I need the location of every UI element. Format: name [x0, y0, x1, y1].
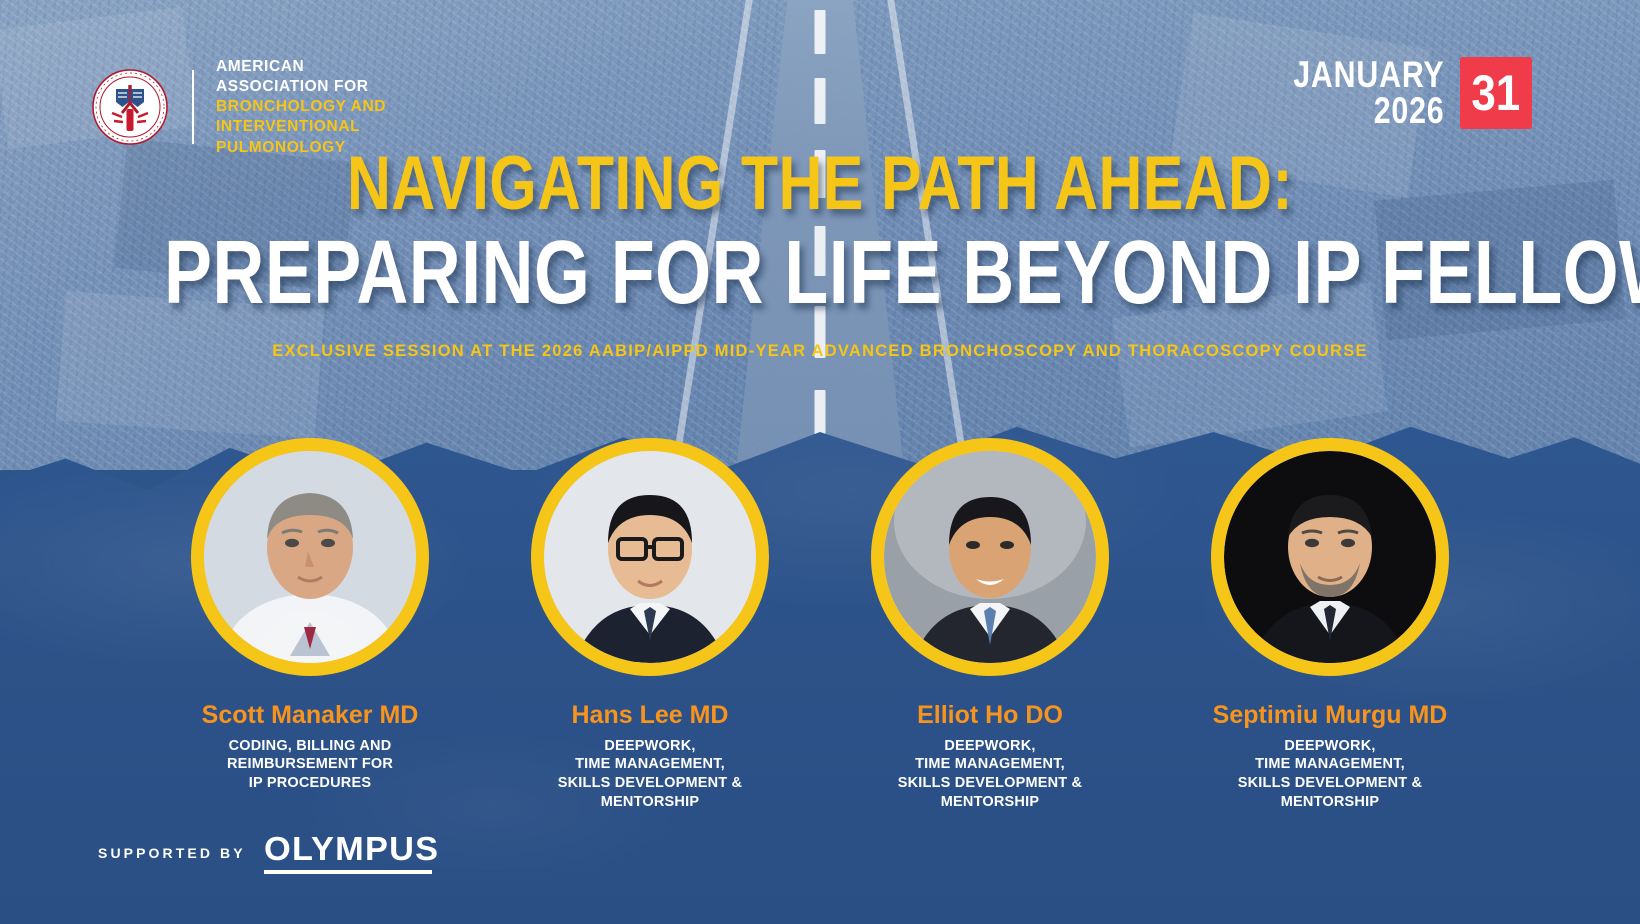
speaker-portrait-ring — [191, 438, 429, 676]
event-date-month-year: JANUARY 2026 — [1293, 57, 1444, 128]
speaker-name: Hans Lee MD — [572, 702, 729, 730]
headline-primary: NAVIGATING THE PATH AHEAD: — [164, 148, 1476, 219]
speaker-card: Septimiu Murgu MD DEEPWORK,TIME MANAGEME… — [1160, 438, 1500, 812]
event-promo-poster: AMERICAN ASSOCIATION FOR BRONCHOLOGY AND… — [0, 0, 1640, 924]
aabip-logo: AMERICAN ASSOCIATION FOR BRONCHOLOGY AND… — [92, 57, 386, 158]
headline-group: NAVIGATING THE PATH AHEAD: PREPARING FOR… — [0, 148, 1640, 361]
speaker-topic: DEEPWORK,TIME MANAGEMENT,SKILLS DEVELOPM… — [898, 737, 1082, 812]
event-date: JANUARY 2026 31 — [1260, 57, 1532, 129]
speaker-portrait-ring — [531, 438, 769, 676]
olympus-wordmark: OLYMPUS — [264, 832, 439, 865]
speaker-portrait-ring — [871, 438, 1109, 676]
headline-subtitle: EXCLUSIVE SESSION AT THE 2026 AABIP/AIPP… — [0, 342, 1640, 361]
olympus-logo: OLYMPUS — [264, 832, 433, 874]
road-center-dash — [815, 10, 826, 54]
headline-secondary: PREPARING FOR LIFE BEYOND IP FELLOWSHIP — [164, 231, 1476, 316]
speaker-topic: CODING, BILLING ANDREIMBURSEMENT FORIP P… — [227, 737, 393, 794]
event-date-month: JANUARY — [1293, 57, 1444, 93]
logo-line-4: INTERVENTIONAL — [216, 117, 386, 137]
speaker-card: Scott Manaker MD CODING, BILLING ANDREIM… — [140, 438, 480, 812]
supported-by-label: SUPPORTED BY — [98, 845, 246, 861]
speaker-topic: DEEPWORK,TIME MANAGEMENT,SKILLS DEVELOPM… — [1238, 737, 1422, 812]
event-date-day-badge: 31 — [1460, 57, 1532, 129]
aabip-seal-icon — [92, 69, 168, 145]
speaker-card: Hans Lee MD DEEPWORK,TIME MANAGEMENT,SKI… — [480, 438, 820, 812]
speaker-portrait-ring — [1211, 438, 1449, 676]
speaker-name: Elliot Ho DO — [917, 702, 1063, 730]
speaker-portrait-hans-lee — [544, 451, 756, 663]
speaker-portrait-septimiu-murgu — [1224, 451, 1436, 663]
speaker-card: Elliot Ho DO DEEPWORK,TIME MANAGEMENT,SK… — [820, 438, 1160, 812]
logo-line-2: ASSOCIATION FOR — [216, 77, 386, 97]
event-date-day: 31 — [1472, 68, 1521, 118]
sponsor-footer: SUPPORTED BY OLYMPUS — [98, 832, 432, 874]
logo-divider — [192, 70, 194, 144]
speaker-portrait-scott-manaker — [204, 451, 416, 663]
speaker-topic: DEEPWORK,TIME MANAGEMENT,SKILLS DEVELOPM… — [558, 737, 742, 812]
road-center-dash — [815, 78, 826, 124]
speaker-name: Scott Manaker MD — [202, 702, 419, 730]
event-date-year: 2026 — [1293, 93, 1444, 129]
speaker-portrait-elliot-ho — [884, 451, 1096, 663]
logo-line-1: AMERICAN — [216, 57, 386, 77]
speaker-list: Scott Manaker MD CODING, BILLING ANDREIM… — [0, 438, 1640, 812]
logo-line-3: BRONCHOLOGY AND — [216, 97, 386, 117]
speaker-name: Septimiu Murgu MD — [1213, 702, 1448, 730]
olympus-underline-bar — [264, 870, 433, 874]
